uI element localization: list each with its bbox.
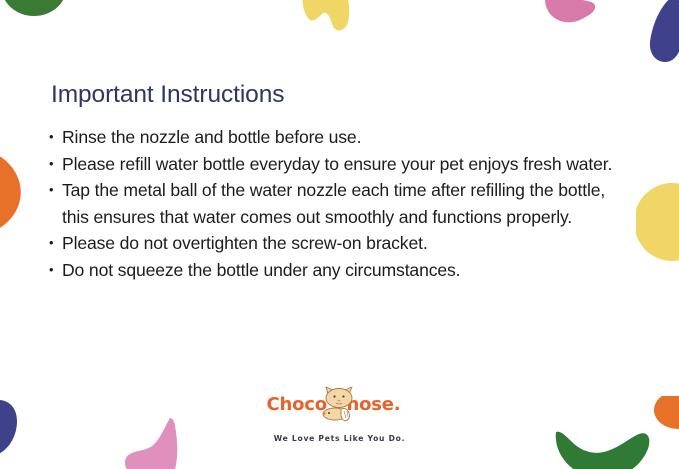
brand-logo: Choco nose. <box>0 392 679 443</box>
logo-mark: Choco nose. <box>267 392 413 424</box>
list-item: Rinse the nozzle and bottle before use. <box>49 124 634 151</box>
instruction-list: Rinse the nozzle and bottle before use. … <box>49 124 634 283</box>
list-item: Do not squeeze the bottle under any circ… <box>49 257 634 284</box>
cat-and-dog-illustration <box>319 386 365 424</box>
list-item: Tap the metal ball of the water nozzle e… <box>49 177 634 230</box>
list-item: Please refill water bottle everyday to e… <box>49 151 634 178</box>
logo-tagline: We Love Pets Like You Do. <box>0 434 679 443</box>
page-title: Important Instructions <box>51 81 284 109</box>
list-item: Please do not overtighten the screw-on b… <box>49 230 634 257</box>
instruction-card: Important Instructions Rinse the nozzle … <box>0 0 679 469</box>
